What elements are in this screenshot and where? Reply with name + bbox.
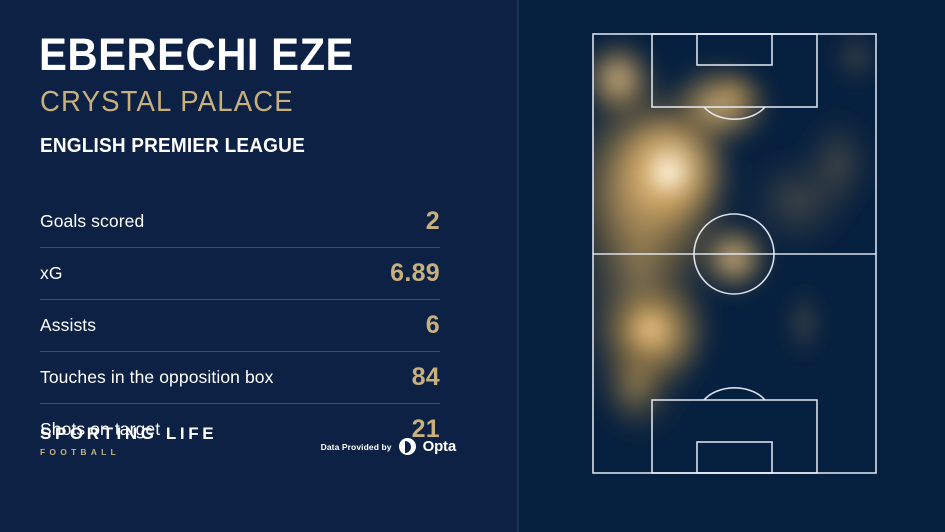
sporting-life-logo: SPORTING LIFE FOOTBALL xyxy=(40,424,217,459)
stat-value: 2 xyxy=(426,207,440,236)
table-row: Touches in the opposition box 84 xyxy=(40,352,440,404)
stat-value: 84 xyxy=(412,363,440,392)
pitch-heatmap xyxy=(592,33,877,474)
stat-value: 6.89 xyxy=(390,259,440,288)
opta-logo-icon xyxy=(399,438,416,455)
team-name: CRYSTAL PALACE xyxy=(40,85,294,119)
stat-label: Assists xyxy=(40,315,96,336)
info-panel: EBERECHI EZE CRYSTAL PALACE ENGLISH PREM… xyxy=(0,0,518,532)
player-stats-graphic: EBERECHI EZE CRYSTAL PALACE ENGLISH PREM… xyxy=(0,0,945,532)
brand-subtitle: FOOTBALL xyxy=(40,446,217,459)
heatmap-panel xyxy=(519,0,945,532)
stat-value: 6 xyxy=(426,311,440,340)
competition-name: ENGLISH PREMIER LEAGUE xyxy=(40,134,305,159)
table-row: xG 6.89 xyxy=(40,248,440,300)
stat-label: Goals scored xyxy=(40,211,144,232)
footer: SPORTING LIFE FOOTBALL Data Provided by … xyxy=(0,472,518,532)
stats-table: Goals scored 2 xG 6.89 Assists 6 Touches… xyxy=(40,196,440,455)
table-row: Assists 6 xyxy=(40,300,440,352)
opta-wordmark: Opta xyxy=(423,438,456,455)
data-provider-credit: Data Provided by Opta xyxy=(321,438,456,455)
stat-label: xG xyxy=(40,263,63,284)
table-row: Goals scored 2 xyxy=(40,196,440,248)
brand-title: SPORTING LIFE xyxy=(40,424,217,444)
page-title: EBERECHI EZE xyxy=(39,30,354,80)
stat-label: Touches in the opposition box xyxy=(40,367,273,388)
data-credit-text: Data Provided by xyxy=(321,442,392,452)
